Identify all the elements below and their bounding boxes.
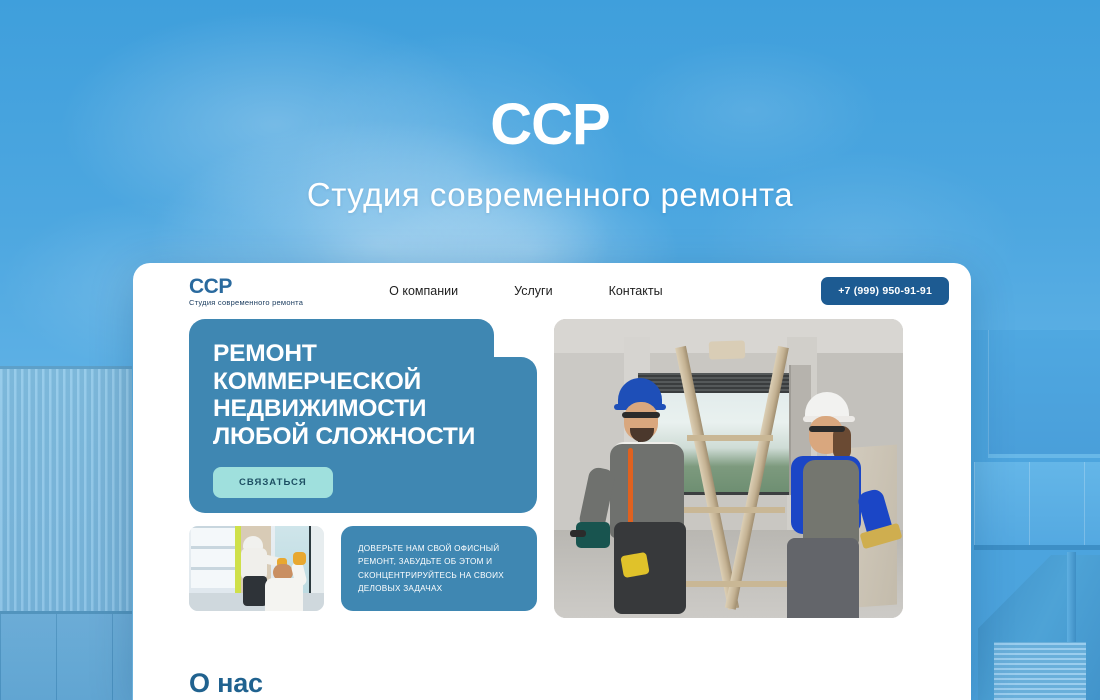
nav-item-services[interactable]: Услуги <box>514 284 552 298</box>
work-glove-icon <box>293 552 306 565</box>
hero-title: РЕМОНТ КОММЕРЧЕСКОЙ НЕДВИЖИМОСТИ ЛЮБОЙ С… <box>213 340 515 451</box>
brand-block: ССР Студия современного ремонта <box>0 96 1100 214</box>
building-post <box>1067 552 1076 700</box>
building-shutter <box>994 642 1086 700</box>
building-panel-upper <box>988 330 1100 458</box>
phone-button[interactable]: +7 (999) 950-91-91 <box>821 277 949 305</box>
contact-button[interactable]: СВЯЗАТЬСЯ <box>213 467 333 498</box>
blurb-card: ДОВЕРЬТЕ НАМ СВОЙ ОФИСНЫЙ РЕМОНТ, ЗАБУДЬ… <box>341 526 537 611</box>
page-background: ССР Студия современного ремонта ССР Студ… <box>0 0 1100 700</box>
hero-left-column: РЕМОНТ КОММЕРЧЕСКОЙ НЕДВИЖИМОСТИ ЛЮБОЙ С… <box>189 319 537 618</box>
header-logo-mark: ССР <box>189 276 303 297</box>
beard-shape <box>630 428 654 442</box>
hero-panel: РЕМОНТ КОММЕРЧЕСКОЙ НЕДВИЖИМОСТИ ЛЮБОЙ С… <box>189 319 537 513</box>
safety-glasses-icon <box>622 412 660 418</box>
main-navigation: О компании Услуги Контакты <box>389 284 662 298</box>
about-heading: О нас <box>189 668 971 699</box>
workers-ladder-illustration <box>554 319 903 618</box>
knee-pad-shape <box>620 552 649 578</box>
brand-logo: ССР <box>0 96 1100 154</box>
hero-content: РЕМОНТ КОММЕРЧЕСКОЙ НЕДВИЖИМОСТИ ЛЮБОЙ С… <box>189 319 537 513</box>
website-mockup-card: ССР Студия современного ремонта О компан… <box>133 263 971 700</box>
site-header: ССР Студия современного ремонта О компан… <box>133 263 971 319</box>
safety-glasses-icon <box>809 426 845 432</box>
nav-item-about[interactable]: О компании <box>389 284 458 298</box>
nav-item-contacts[interactable]: Контакты <box>609 284 663 298</box>
drill-bit-shape <box>570 530 586 537</box>
trousers-shape <box>787 538 859 618</box>
worker-female-figure <box>763 382 883 612</box>
work-vest-shape <box>803 460 859 546</box>
header-logo[interactable]: ССР Студия современного ремонта <box>189 276 303 307</box>
worker-male-figure <box>588 372 708 612</box>
building-panel-lower <box>974 462 1100 550</box>
ladder-top-cap <box>708 340 745 359</box>
hero-photo <box>554 319 903 618</box>
wall-install-illustration <box>189 526 324 611</box>
background-building-right <box>960 330 1100 700</box>
wall-install-photo <box>189 526 324 611</box>
hero-under-row: ДОВЕРЬТЕ НАМ СВОЙ ОФИСНЫЙ РЕМОНТ, ЗАБУДЬ… <box>189 526 537 611</box>
header-logo-subtitle: Студия современного ремонта <box>189 299 303 307</box>
background-building-left <box>0 366 132 700</box>
worker-legs-shape <box>243 576 267 606</box>
about-section: О нас <box>133 668 971 699</box>
brand-tagline: Студия современного ремонта <box>0 176 1100 214</box>
window-shape <box>191 526 237 588</box>
building-roof <box>978 555 1100 700</box>
hero-row: РЕМОНТ КОММЕРЧЕСКОЙ НЕДВИЖИМОСТИ ЛЮБОЙ С… <box>133 319 971 618</box>
